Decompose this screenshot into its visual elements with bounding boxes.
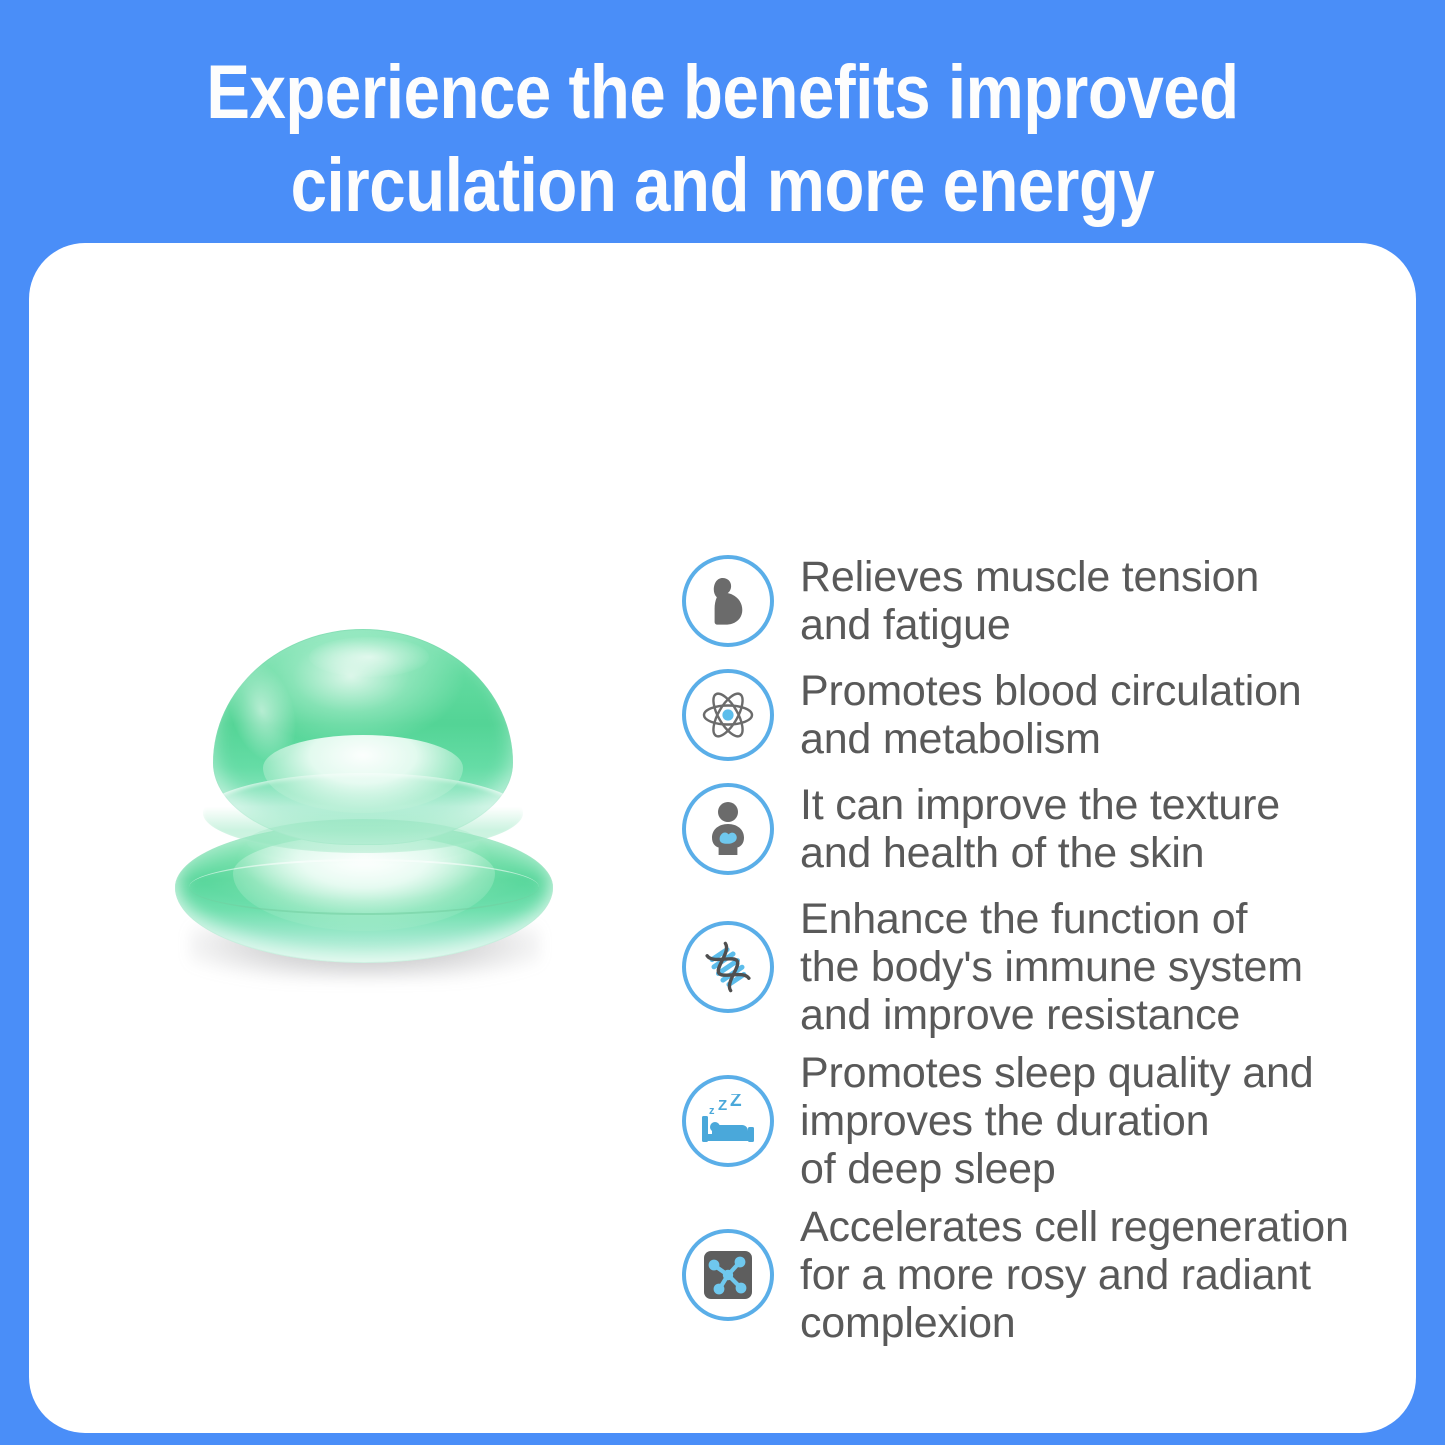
product-image <box>29 573 669 1113</box>
benefit-item-immune-system: Enhance the function of the body's immun… <box>682 895 1416 1039</box>
benefit-icon-ring: z Z Z <box>682 1075 774 1167</box>
benefit-icon-ring <box>682 783 774 875</box>
benefit-label: Promotes sleep quality and improves the … <box>800 1049 1314 1193</box>
benefit-label: Enhance the function of the body's immun… <box>800 895 1303 1039</box>
benefit-item-cell-regeneration: Accelerates cell regeneration for a more… <box>682 1203 1416 1347</box>
svg-text:Z: Z <box>730 1094 742 1111</box>
benefit-item-skin-texture: It can improve the texture and health of… <box>682 781 1416 877</box>
benefit-icon-ring <box>682 669 774 761</box>
person-skin-icon <box>705 801 751 857</box>
benefit-label: Accelerates cell regeneration for a more… <box>800 1203 1349 1347</box>
benefit-label: It can improve the texture and health of… <box>800 781 1280 877</box>
atom-icon <box>700 687 756 743</box>
benefit-label: Promotes blood circulation and metabolis… <box>800 667 1302 763</box>
benefit-icon-ring <box>682 1229 774 1321</box>
benefit-item-blood-circulation: Promotes blood circulation and metabolis… <box>682 667 1416 763</box>
benefit-label: Relieves muscle tension and fatigue <box>800 553 1259 649</box>
benefit-item-sleep-quality: z Z Z Promotes sleep quality and improve… <box>682 1049 1416 1193</box>
svg-text:Z: Z <box>718 1097 727 1114</box>
sleeping-bed-icon: z Z Z <box>698 1094 758 1148</box>
benefits-list: Relieves muscle tension and fatigue Prom <box>682 553 1416 1357</box>
cup-waist <box>247 819 479 865</box>
benefit-item-muscle-tension: Relieves muscle tension and fatigue <box>682 553 1416 649</box>
content-card: Relieves muscle tension and fatigue Prom <box>29 243 1416 1433</box>
page-title: Experience the benefits improved circula… <box>101 46 1344 232</box>
benefit-icon-ring <box>682 921 774 1013</box>
cup-highlight-top <box>309 637 429 677</box>
svg-text:z: z <box>709 1105 715 1117</box>
benefit-icon-ring <box>682 555 774 647</box>
molecule-icon <box>701 1248 755 1302</box>
silicone-cup-graphic <box>169 623 559 1023</box>
dna-helix-icon <box>701 940 755 994</box>
flexed-bicep-icon <box>704 575 752 627</box>
cup-base-rim <box>189 859 539 915</box>
